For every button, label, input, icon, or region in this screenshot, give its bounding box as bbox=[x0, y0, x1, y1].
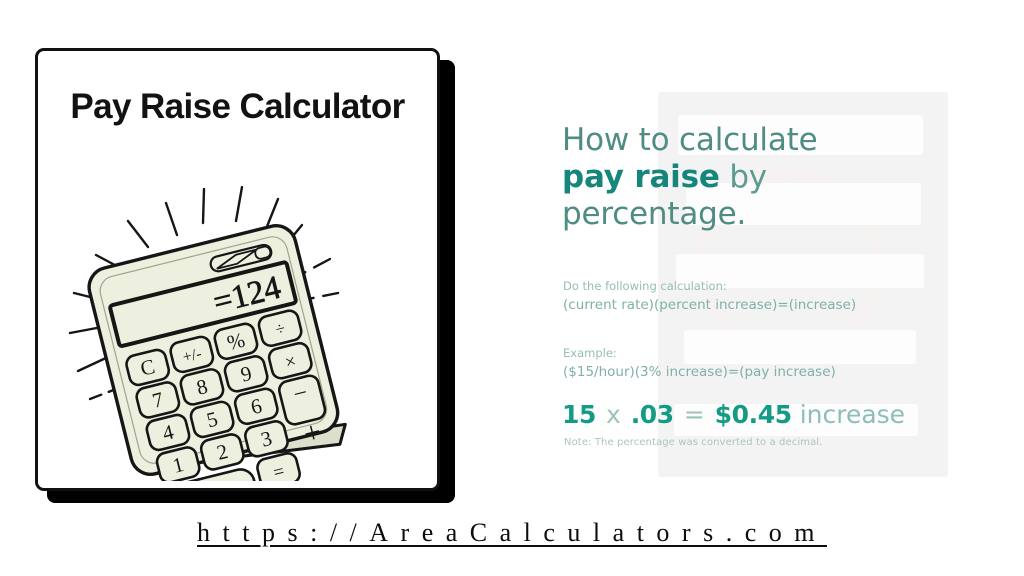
result-operator-1: x bbox=[604, 400, 623, 429]
result-operand-2: .03 bbox=[631, 400, 674, 429]
headline-line-2-tail: by bbox=[729, 159, 767, 195]
info-headline: How to calculate pay raise by percentage… bbox=[562, 122, 922, 233]
formula-expression: (current rate)(percent increase)=(increa… bbox=[563, 296, 963, 315]
page-title: Pay Raise Calculator bbox=[38, 87, 437, 127]
result-equation: 15 x .03 = $0.45 increase bbox=[562, 400, 962, 430]
headline-line-3: percentage. bbox=[562, 196, 746, 232]
headline-accent: pay raise bbox=[562, 159, 720, 195]
formula-lead: Do the following calculation: bbox=[563, 277, 963, 296]
formula-block: Do the following calculation: (current r… bbox=[563, 277, 963, 315]
result-operand-1: 15 bbox=[562, 400, 596, 429]
hero-card: Pay Raise Calculator bbox=[35, 48, 440, 491]
example-expression: ($15/hour)(3% increase)=(pay increase) bbox=[563, 363, 963, 382]
result-operand-3: $0.45 bbox=[715, 400, 792, 429]
hand-drawn-calculator-illustration: =124 bbox=[56, 181, 426, 481]
example-lead: Example: bbox=[563, 344, 963, 363]
info-content: How to calculate pay raise by percentage… bbox=[562, 0, 982, 512]
site-url[interactable]: https://AreaCalculators.com bbox=[0, 518, 1024, 548]
headline-line-1: How to calculate bbox=[562, 122, 817, 158]
result-operator-2: = bbox=[682, 400, 707, 429]
result-note: Note: The percentage was converted to a … bbox=[564, 437, 964, 448]
info-panel: How to calculate pay raise by percentage… bbox=[498, 0, 1024, 512]
result-suffix: increase bbox=[800, 400, 905, 429]
example-block: Example: ($15/hour)(3% increase)=(pay in… bbox=[563, 344, 963, 382]
